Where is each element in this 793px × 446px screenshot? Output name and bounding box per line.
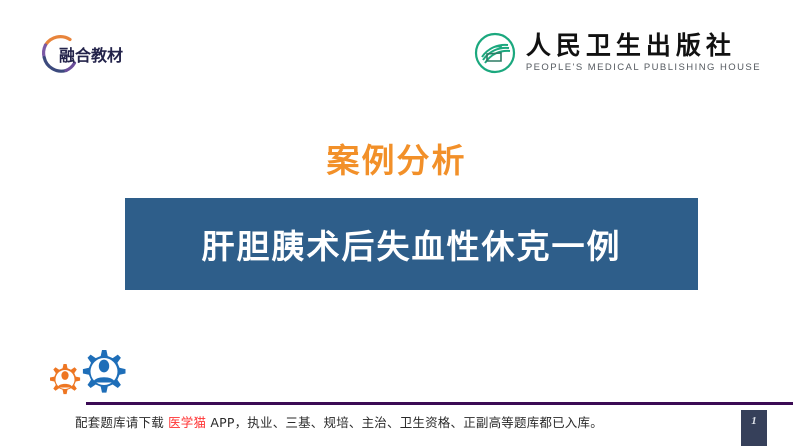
gears-people-icon xyxy=(38,348,148,404)
publisher-logo: 人民卫生出版社 PEOPLE'S MEDICAL PUBLISHING HOUS… xyxy=(474,26,761,80)
page-title: 肝胆胰术后失血性休克一例 xyxy=(202,220,622,268)
publisher-name-block: 人民卫生出版社 PEOPLE'S MEDICAL PUBLISHING HOUS… xyxy=(526,33,761,73)
section-kicker: 案例分析 xyxy=(0,134,793,182)
slide-canvas: 融合教材 人民卫生出版社 PEOPLE'S MEDICAL PUBLISHING… xyxy=(0,0,793,446)
pmph-emblem-icon xyxy=(474,32,516,74)
page-number-badge: 1 xyxy=(741,410,767,446)
footer-note-brand: 医学猫 xyxy=(168,415,206,430)
footer-divider xyxy=(86,402,793,405)
title-banner: 肝胆胰术后失血性休克一例 xyxy=(125,198,698,290)
fused-textbook-logo: 融合教材 xyxy=(36,28,146,80)
publisher-name-en: PEOPLE'S MEDICAL PUBLISHING HOUSE xyxy=(526,62,761,73)
footer-note: 配套题库请下载 医学猫 APP，执业、三基、规培、主治、卫生资格、正副高等题库都… xyxy=(75,412,603,431)
publisher-name-cn: 人民卫生出版社 xyxy=(526,33,761,59)
footer-note-suffix: APP，执业、三基、规培、主治、卫生资格、正副高等题库都已入库。 xyxy=(206,415,603,430)
footer-note-prefix: 配套题库请下载 xyxy=(75,415,168,430)
page-number: 1 xyxy=(741,415,767,427)
fused-textbook-label: 融合教材 xyxy=(59,42,123,66)
